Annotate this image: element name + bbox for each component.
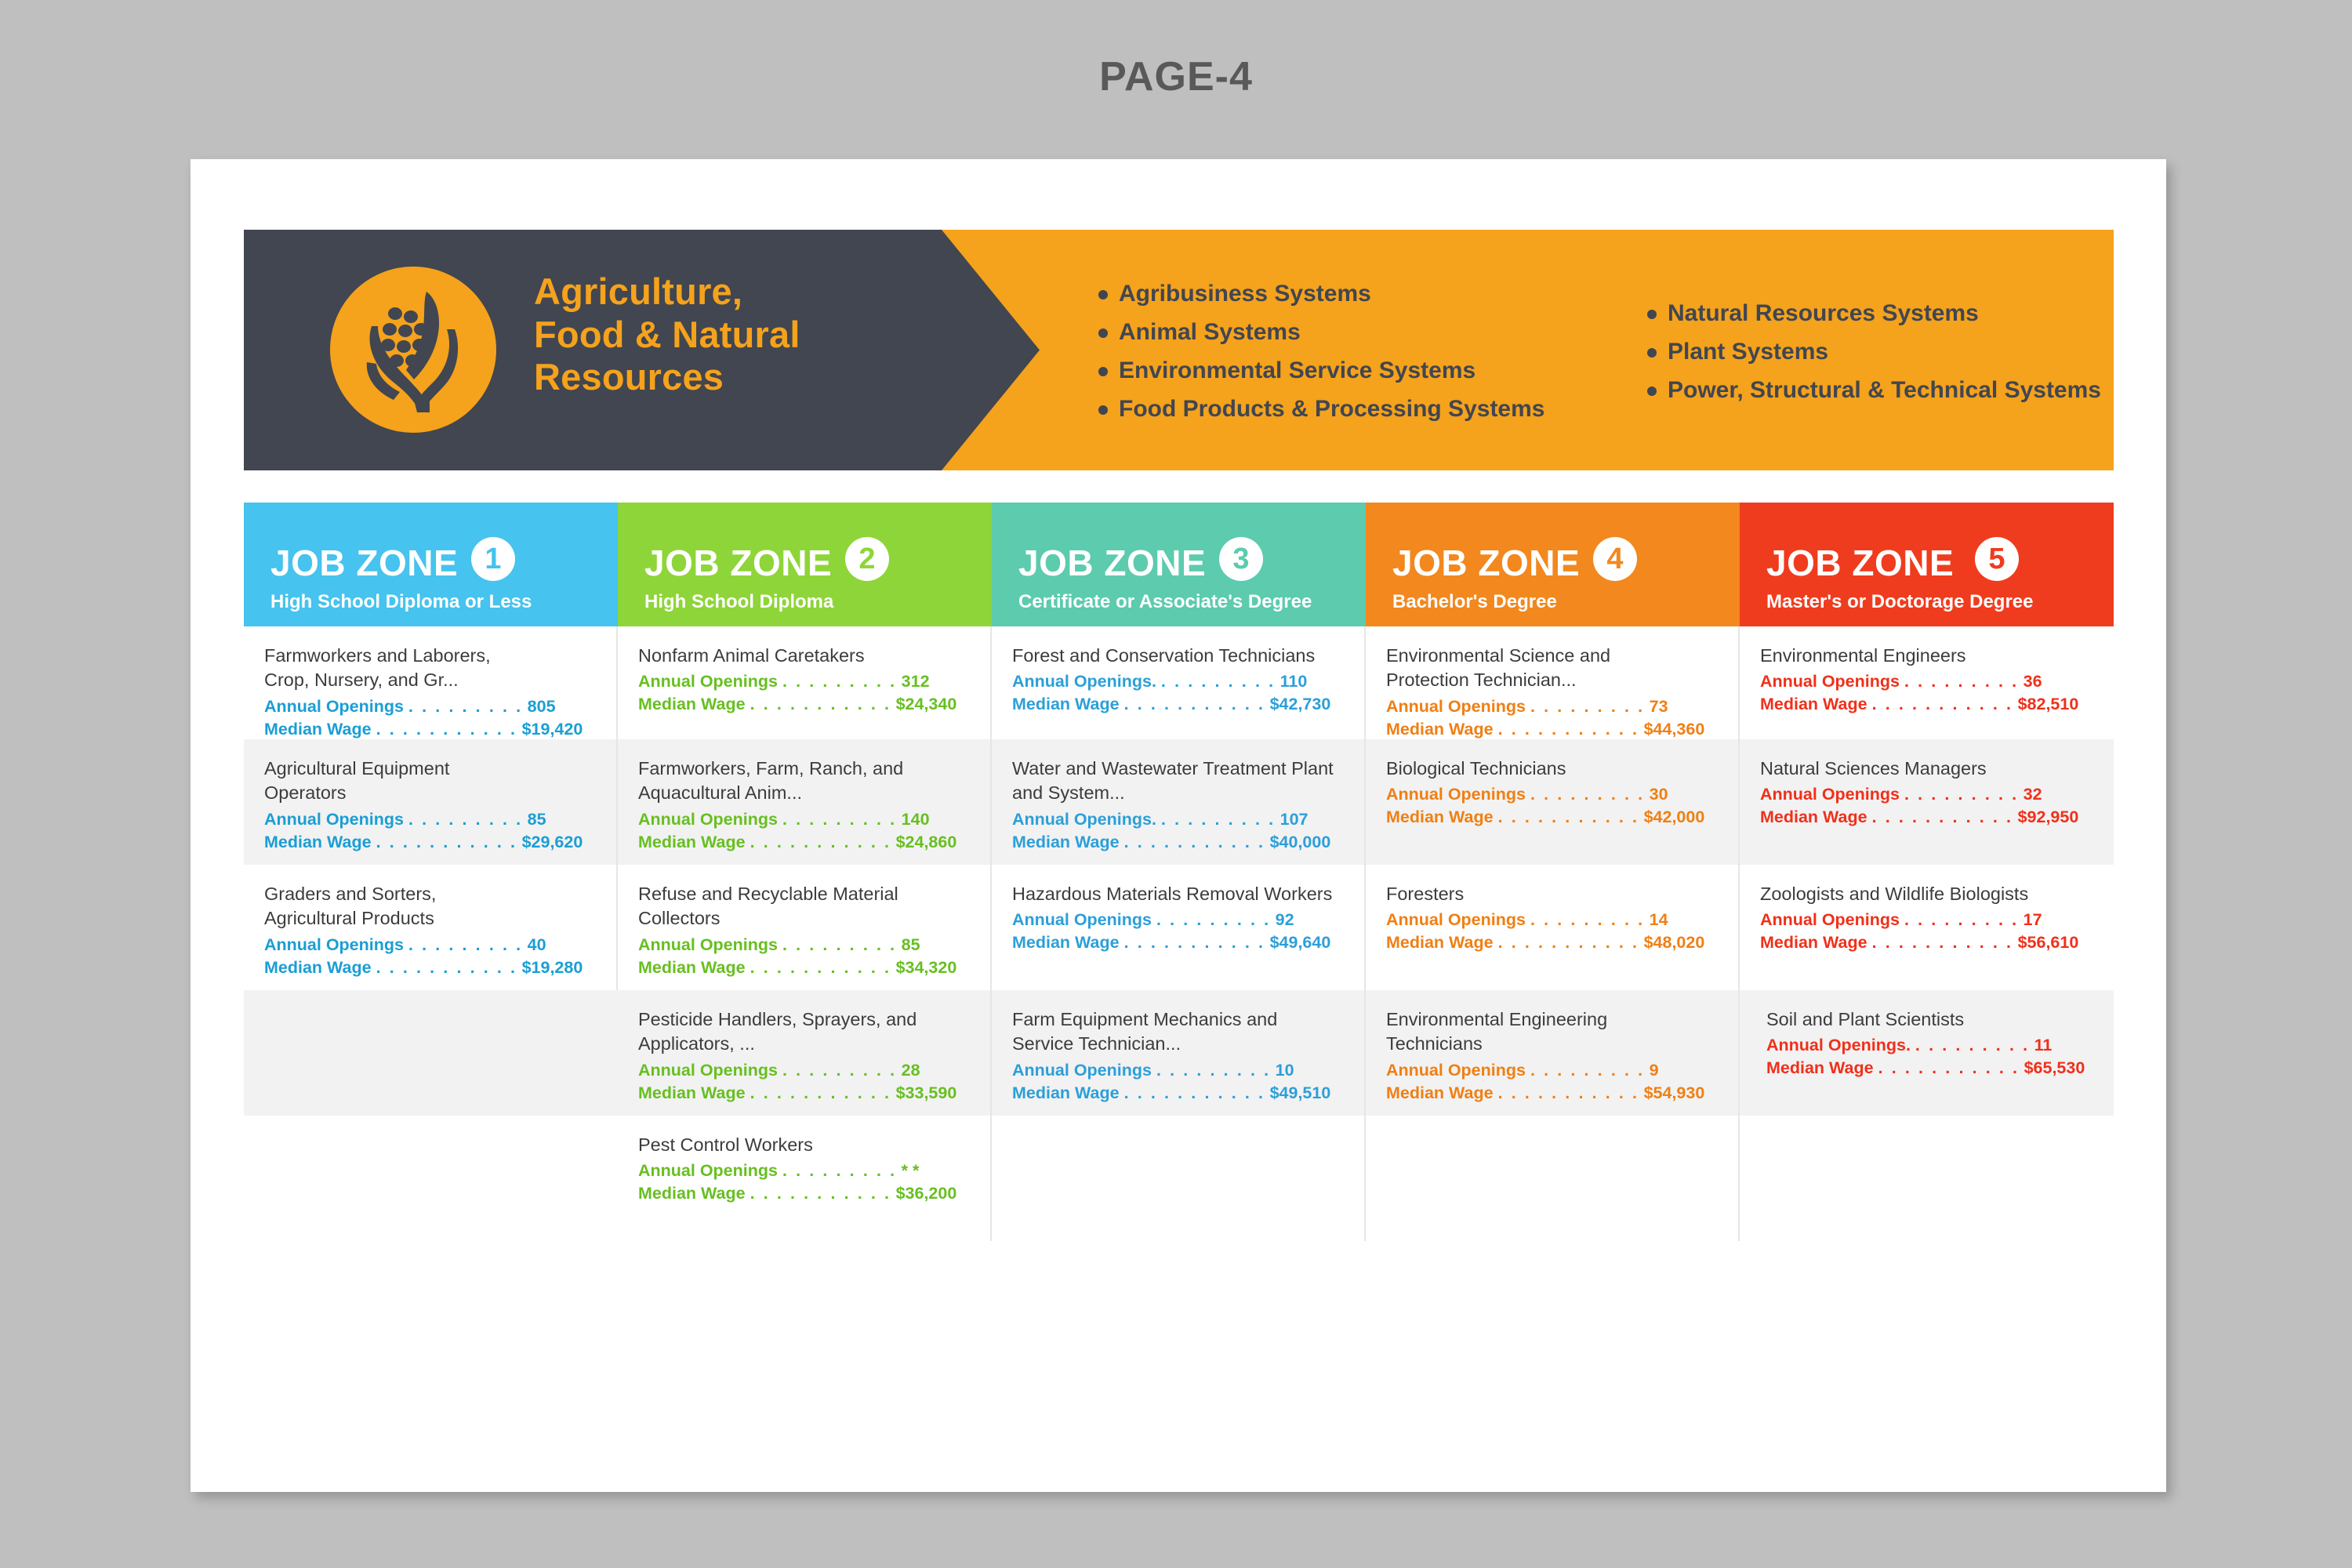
annual-openings-value: 92 [1271,910,1294,929]
median-wage-stat: Median Wage . . . . . . . . . . . $56,61… [1760,931,2093,954]
median-wage-value: $29,620 [517,833,583,851]
leader-dots: . . . . . . . . . . . [1872,695,2013,713]
annual-openings-stat: Annual Openings . . . . . . . . . 36 [1760,670,2093,693]
cluster-title-line-1: Agriculture, [534,270,942,314]
annual-openings-value: 36 [2019,672,2042,691]
leader-dots: . . . . . . . . . . . [1124,933,1265,952]
occupation-cell[interactable]: Pest Control WorkersAnnual Openings . . … [618,1116,992,1241]
occupation-title: Pest Control Workers [638,1133,970,1157]
occupation-cell[interactable]: Farm Equipment Mechanics andService Tech… [992,990,1366,1116]
annual-openings-stat: Annual Openings . . . . . . . . . * * [638,1160,970,1182]
occupation-cell[interactable]: Water and Wastewater Treatment Plantand … [992,739,1366,865]
annual-openings-stat: Annual Openings . . . . . . . . . 14 [1386,909,1718,931]
occupation-cell[interactable]: Farmworkers, Farm, Ranch, andAquacultura… [618,739,992,865]
occupation-cell[interactable]: Environmental EngineeringTechniciansAnnu… [1366,990,1740,1116]
median-wage-label: Median Wage [638,1083,750,1102]
job-zone-heading: JOB ZONE [270,545,458,581]
pathway-item: Natural Resources Systems [1647,302,2086,325]
job-zone-table: JOB ZONE1High School Diploma or LessFarm… [244,503,2114,1241]
pathway-item: Food Products & Processing Systems [1098,397,1647,421]
cluster-title-line-2: Food & Natural [534,314,942,357]
annual-openings-value: 107 [1276,810,1308,829]
leader-dots: . . . . . . . . . . . [750,1184,891,1203]
job-zone-column-4: JOB ZONE4Bachelor's DegreeEnvironmental … [1366,503,1740,1241]
occupation-cell[interactable]: Nonfarm Animal CaretakersAnnual Openings… [618,626,992,739]
annual-openings-value: 10 [1271,1061,1294,1080]
corn-cob-icon [330,267,496,433]
annual-openings-stat: Annual Openings . . . . . . . . . 73 [1386,695,1718,718]
job-zone-body-1: Farmworkers and Laborers,Crop, Nursery, … [244,626,618,1241]
median-wage-stat: Median Wage . . . . . . . . . . . $49,51… [1012,1082,1344,1105]
occupation-title: Natural Sciences Managers [1760,757,2093,781]
median-wage-stat: Median Wage . . . . . . . . . . . $92,95… [1760,806,2093,829]
job-zone-column-1: JOB ZONE1High School Diploma or LessFarm… [244,503,618,1241]
leader-dots: . . . . . . . . . [408,810,523,829]
median-wage-label: Median Wage [1386,720,1498,739]
annual-openings-label: Annual Openings. [1012,672,1161,691]
annual-openings-stat: Annual Openings . . . . . . . . . 10 [1012,1059,1344,1082]
annual-openings-value: 805 [523,697,556,716]
leader-dots: . . . . . . . . . . . [750,958,891,977]
occupation-title: Farmworkers, Farm, Ranch, andAquacultura… [638,757,970,806]
median-wage-value: $19,280 [517,958,583,977]
median-wage-stat: Median Wage . . . . . . . . . . . $34,32… [638,956,970,979]
median-wage-value: $54,930 [1639,1083,1705,1102]
median-wage-stat: Median Wage . . . . . . . . . . . $19,28… [264,956,596,979]
bullet-icon [1647,348,1657,358]
leader-dots: . . . . . . . . . . . [1498,933,1639,952]
leader-dots: . . . . . . . . . . . [1124,833,1265,851]
median-wage-label: Median Wage [1386,1083,1498,1102]
median-wage-label: Median Wage [1386,808,1498,826]
pathways-column-left: Agribusiness Systems Animal Systems Envi… [1098,279,1647,421]
bullet-icon [1647,387,1657,396]
occupation-cell[interactable]: Zoologists and Wildlife BiologistsAnnual… [1740,865,2114,990]
leader-dots: . . . . . . . . . [1915,1036,2030,1054]
occupation-title: Nonfarm Animal Caretakers [638,644,970,668]
annual-openings-label: Annual Openings. [1012,810,1161,829]
annual-openings-value: 32 [2019,785,2042,804]
bullet-icon [1098,367,1108,376]
occupation-cell[interactable]: Natural Sciences ManagersAnnual Openings… [1740,739,2114,865]
job-zone-header-4[interactable]: JOB ZONE4Bachelor's Degree [1366,503,1740,626]
job-zone-education-label: Bachelor's Degree [1392,593,1557,612]
leader-dots: . . . . . . . . . . . [376,958,517,977]
leader-dots: . . . . . . . . . [1156,910,1271,929]
occupation-title: Environmental EngineeringTechnicians [1386,1007,1718,1057]
job-zone-education-label: Certificate or Associate's Degree [1018,593,1312,612]
occupation-cell-empty [244,1116,618,1241]
annual-openings-stat: Annual Openings . . . . . . . . . 805 [264,695,596,718]
occupation-title: Refuse and Recyclable MaterialCollectors [638,882,970,931]
occupation-title: Biological Technicians [1386,757,1718,781]
median-wage-stat: Median Wage . . . . . . . . . . . $44,36… [1386,718,1718,741]
median-wage-stat: Median Wage . . . . . . . . . . . $36,20… [638,1182,970,1205]
median-wage-label: Median Wage [638,958,750,977]
occupation-title: Environmental Science andProtection Tech… [1386,644,1718,693]
leader-dots: . . . . . . . . . [1904,672,2019,691]
median-wage-value: $56,610 [2013,933,2079,952]
bullet-icon [1098,328,1108,338]
median-wage-value: $24,860 [891,833,957,851]
median-wage-value: $65,530 [2020,1058,2085,1077]
leader-dots: . . . . . . . . . [408,697,523,716]
annual-openings-stat: Annual Openings . . . . . . . . . 28 [638,1059,970,1082]
occupation-cell[interactable]: Hazardous Materials Removal WorkersAnnua… [992,865,1366,990]
occupation-title: Water and Wastewater Treatment Plantand … [1012,757,1344,806]
median-wage-value: $82,510 [2013,695,2079,713]
occupation-cell-empty [1740,1116,2114,1241]
occupation-title: Agricultural EquipmentOperators [264,757,596,806]
median-wage-label: Median Wage [1012,695,1124,713]
median-wage-stat: Median Wage . . . . . . . . . . . $40,00… [1012,831,1344,854]
job-zone-body-5: Environmental EngineersAnnual Openings .… [1740,626,2114,1241]
occupation-cell[interactable]: Farmworkers and Laborers,Crop, Nursery, … [244,626,618,739]
occupation-title: Soil and Plant Scientists [1766,1007,2093,1032]
leader-dots: . . . . . . . . . [1161,672,1276,691]
median-wage-label: Median Wage [1760,808,1872,826]
annual-openings-label: Annual Openings [1012,1061,1156,1080]
cluster-title: Agriculture, Food & Natural Resources [534,270,942,399]
annual-openings-value: 30 [1645,785,1668,804]
annual-openings-label: Annual Openings [1012,910,1156,929]
job-zone-header-3[interactable]: JOB ZONE3Certificate or Associate's Degr… [992,503,1366,626]
annual-openings-value: 17 [2019,910,2042,929]
annual-openings-stat: Annual Openings . . . . . . . . . 32 [1760,783,2093,806]
median-wage-value: $49,640 [1265,933,1331,952]
annual-openings-stat: Annual Openings . . . . . . . . . 312 [638,670,970,693]
annual-openings-label: Annual Openings [638,1161,782,1180]
leader-dots: . . . . . . . . . [1161,810,1276,829]
median-wage-label: Median Wage [1012,833,1124,851]
leader-dots: . . . . . . . . . [1156,1061,1271,1080]
occupation-cell-empty [1366,1116,1740,1241]
job-zone-education-label: Master's or Doctorage Degree [1766,593,2034,612]
annual-openings-label: Annual Openings. [1766,1036,1915,1054]
pathway-item: Environmental Service Systems [1098,359,1647,383]
median-wage-value: $33,590 [891,1083,957,1102]
median-wage-stat: Median Wage . . . . . . . . . . . $42,00… [1386,806,1718,829]
job-zone-education-label: High School Diploma or Less [270,593,532,612]
annual-openings-stat: Annual Openings . . . . . . . . . 92 [1012,909,1344,931]
annual-openings-label: Annual Openings [264,697,408,716]
median-wage-label: Median Wage [264,833,376,851]
median-wage-value: $24,340 [891,695,957,713]
annual-openings-stat: Annual Openings . . . . . . . . . 17 [1760,909,2093,931]
leader-dots: . . . . . . . . . [1904,785,2019,804]
median-wage-label: Median Wage [1012,1083,1124,1102]
job-zone-number-badge: 5 [1975,537,2019,581]
annual-openings-value: 14 [1645,910,1668,929]
annual-openings-stat: Annual Openings. . . . . . . . . . 110 [1012,670,1344,693]
leader-dots: . . . . . . . . . . . [376,720,517,739]
leader-dots: . . . . . . . . . [408,935,523,954]
occupation-cell[interactable]: Graders and Sorters,Agricultural Product… [244,865,618,990]
annual-openings-label: Annual Openings [264,935,408,954]
annual-openings-stat: Annual Openings . . . . . . . . . 140 [638,808,970,831]
pathway-item: Plant Systems [1647,340,2086,364]
occupation-title: Pesticide Handlers, Sprayers, andApplica… [638,1007,970,1057]
job-zone-header-1[interactable]: JOB ZONE1High School Diploma or Less [244,503,618,626]
median-wage-stat: Median Wage . . . . . . . . . . . $65,53… [1766,1057,2093,1080]
leader-dots: . . . . . . . . . . . [750,1083,891,1102]
median-wage-label: Median Wage [1766,1058,1878,1077]
occupation-title: Forest and Conservation Technicians [1012,644,1344,668]
median-wage-stat: Median Wage . . . . . . . . . . . $82,51… [1760,693,2093,716]
median-wage-stat: Median Wage . . . . . . . . . . . $54,93… [1386,1082,1718,1105]
job-zone-number-badge: 3 [1219,537,1263,581]
leader-dots: . . . . . . . . . . . [750,833,891,851]
annual-openings-stat: Annual Openings . . . . . . . . . 30 [1386,783,1718,806]
cluster-banner: Agriculture, Food & Natural Resources Ag… [244,230,2114,470]
annual-openings-stat: Annual Openings . . . . . . . . . 85 [638,934,970,956]
leader-dots: . . . . . . . . . [1530,1061,1645,1080]
annual-openings-label: Annual Openings [1386,1061,1530,1080]
median-wage-label: Median Wage [638,1184,750,1203]
leader-dots: . . . . . . . . . . . [1124,695,1265,713]
occupation-cell[interactable]: Environmental EngineersAnnual Openings .… [1740,626,2114,739]
occupation-title: Hazardous Materials Removal Workers [1012,882,1344,906]
leader-dots: . . . . . . . . . . . [1872,933,2013,952]
job-zone-heading: JOB ZONE [1392,545,1580,581]
job-zone-heading: JOB ZONE [644,545,832,581]
leader-dots: . . . . . . . . . [782,935,897,954]
cluster-title-line-3: Resources [534,356,942,399]
occupation-cell[interactable]: Agricultural EquipmentOperatorsAnnual Op… [244,739,618,865]
bullet-icon [1647,310,1657,319]
job-zone-number-badge: 1 [471,537,515,581]
occupation-cell-empty [244,990,618,1116]
occupation-title: Graders and Sorters,Agricultural Product… [264,882,596,931]
leader-dots: . . . . . . . . . [782,1061,897,1080]
job-zone-body-3: Forest and Conservation TechniciansAnnua… [992,626,1366,1241]
pathways-column-right: Natural Resources Systems Plant Systems … [1647,299,2086,402]
leader-dots: . . . . . . . . . [1530,697,1645,716]
median-wage-stat: Median Wage . . . . . . . . . . . $42,73… [1012,693,1344,716]
leader-dots: . . . . . . . . . [1530,785,1645,804]
leader-dots: . . . . . . . . . . . [1124,1083,1265,1102]
job-zone-column-3: JOB ZONE3Certificate or Associate's Degr… [992,503,1366,1241]
job-zone-column-5: JOB ZONE5Master's or Doctorage DegreeEnv… [1740,503,2114,1241]
annual-openings-label: Annual Openings [638,810,782,829]
annual-openings-label: Annual Openings [1386,910,1530,929]
median-wage-value: $36,200 [891,1184,957,1203]
annual-openings-value: 140 [897,810,930,829]
annual-openings-value: 312 [897,672,930,691]
median-wage-stat: Median Wage . . . . . . . . . . . $24,86… [638,831,970,854]
annual-openings-stat: Annual Openings. . . . . . . . . . 107 [1012,808,1344,831]
leader-dots: . . . . . . . . . . . [1872,808,2013,826]
annual-openings-value: 85 [897,935,920,954]
median-wage-value: $40,000 [1265,833,1331,851]
median-wage-label: Median Wage [264,958,376,977]
median-wage-stat: Median Wage . . . . . . . . . . . $49,64… [1012,931,1344,954]
median-wage-value: $48,020 [1639,933,1705,952]
leader-dots: . . . . . . . . . . . [1498,720,1639,739]
annual-openings-label: Annual Openings [1760,910,1904,929]
median-wage-value: $34,320 [891,958,957,977]
median-wage-label: Median Wage [638,695,750,713]
leader-dots: . . . . . . . . . [782,672,897,691]
median-wage-value: $44,360 [1639,720,1705,739]
annual-openings-value: 73 [1645,697,1668,716]
leader-dots: . . . . . . . . . [782,1161,897,1180]
annual-openings-label: Annual Openings [1760,672,1904,691]
occupation-title: Environmental Engineers [1760,644,2093,668]
job-zone-column-2: JOB ZONE2High School DiplomaNonfarm Anim… [618,503,992,1241]
occupation-title: Farmworkers and Laborers,Crop, Nursery, … [264,644,596,693]
annual-openings-value: 110 [1276,672,1308,691]
leader-dots: . . . . . . . . . . . [1498,1083,1639,1102]
annual-openings-label: Annual Openings [1386,785,1530,804]
job-zone-header-2[interactable]: JOB ZONE2High School Diploma [618,503,992,626]
annual-openings-label: Annual Openings [638,672,782,691]
job-zone-heading: JOB ZONE [1018,545,1206,581]
job-zone-number-badge: 4 [1593,537,1637,581]
median-wage-stat: Median Wage . . . . . . . . . . . $29,62… [264,831,596,854]
page-title: PAGE-4 [0,0,2352,100]
annual-openings-label: Annual Openings [1760,785,1904,804]
occupation-title: Foresters [1386,882,1718,906]
job-zone-header-5[interactable]: JOB ZONE5Master's or Doctorage Degree [1740,503,2114,626]
job-zone-heading: JOB ZONE [1766,545,1954,581]
occupation-cell[interactable]: ForestersAnnual Openings . . . . . . . .… [1366,865,1740,990]
annual-openings-label: Annual Openings [1386,697,1530,716]
occupation-cell-empty [992,1116,1366,1241]
annual-openings-value: 11 [2030,1036,2053,1054]
annual-openings-value: 85 [523,810,546,829]
leader-dots: . . . . . . . . . [782,810,897,829]
occupation-cell[interactable]: Pesticide Handlers, Sprayers, andApplica… [618,990,992,1116]
annual-openings-stat: Annual Openings . . . . . . . . . 85 [264,808,596,831]
bullet-icon [1098,405,1108,415]
annual-openings-label: Annual Openings [264,810,408,829]
median-wage-stat: Median Wage . . . . . . . . . . . $19,42… [264,718,596,741]
pathway-item: Animal Systems [1098,321,1647,344]
job-zone-body-2: Nonfarm Animal CaretakersAnnual Openings… [618,626,992,1241]
occupation-cell[interactable]: Refuse and Recyclable MaterialCollectors… [618,865,992,990]
leader-dots: . . . . . . . . . [1530,910,1645,929]
annual-openings-stat: Annual Openings. . . . . . . . . . 11 [1766,1034,2093,1057]
leader-dots: . . . . . . . . . [1904,910,2019,929]
median-wage-label: Median Wage [1386,933,1498,952]
median-wage-stat: Median Wage . . . . . . . . . . . $33,59… [638,1082,970,1105]
median-wage-label: Median Wage [638,833,750,851]
annual-openings-stat: Annual Openings . . . . . . . . . 9 [1386,1059,1718,1082]
pathway-item: Power, Structural & Technical Systems [1647,379,2086,402]
annual-openings-value: 40 [523,935,546,954]
annual-openings-label: Annual Openings [638,935,782,954]
annual-openings-value: * * [897,1161,920,1180]
median-wage-value: $92,950 [2013,808,2079,826]
job-zone-body-4: Environmental Science andProtection Tech… [1366,626,1740,1241]
median-wage-value: $42,000 [1639,808,1705,826]
slide-canvas: Agriculture, Food & Natural Resources Ag… [191,159,2166,1492]
median-wage-value: $42,730 [1265,695,1331,713]
pathway-item: Agribusiness Systems [1098,282,1647,306]
occupation-title: Farm Equipment Mechanics andService Tech… [1012,1007,1344,1057]
median-wage-label: Median Wage [1012,933,1124,952]
pathways-list: Agribusiness Systems Animal Systems Envi… [1098,230,2114,470]
median-wage-label: Median Wage [1760,695,1872,713]
annual-openings-value: 9 [1645,1061,1659,1080]
leader-dots: . . . . . . . . . . . [1498,808,1639,826]
annual-openings-label: Annual Openings [638,1061,782,1080]
job-zone-education-label: High School Diploma [644,593,833,612]
job-zone-number-badge: 2 [845,537,889,581]
median-wage-value: $19,420 [517,720,583,739]
occupation-cell[interactable]: Forest and Conservation TechniciansAnnua… [992,626,1366,739]
leader-dots: . . . . . . . . . . . [1878,1058,2020,1077]
bullet-icon [1098,290,1108,299]
median-wage-value: $49,510 [1265,1083,1331,1102]
annual-openings-stat: Annual Openings . . . . . . . . . 40 [264,934,596,956]
median-wage-stat: Median Wage . . . . . . . . . . . $48,02… [1386,931,1718,954]
leader-dots: . . . . . . . . . . . [750,695,891,713]
occupation-title: Zoologists and Wildlife Biologists [1760,882,2093,906]
annual-openings-value: 28 [897,1061,920,1080]
median-wage-label: Median Wage [264,720,376,739]
leader-dots: . . . . . . . . . . . [376,833,517,851]
median-wage-label: Median Wage [1760,933,1872,952]
occupation-cell[interactable]: Soil and Plant ScientistsAnnual Openings… [1740,990,2114,1116]
occupation-cell[interactable]: Environmental Science andProtection Tech… [1366,626,1740,739]
median-wage-stat: Median Wage . . . . . . . . . . . $24,34… [638,693,970,716]
occupation-cell[interactable]: Biological TechniciansAnnual Openings . … [1366,739,1740,865]
